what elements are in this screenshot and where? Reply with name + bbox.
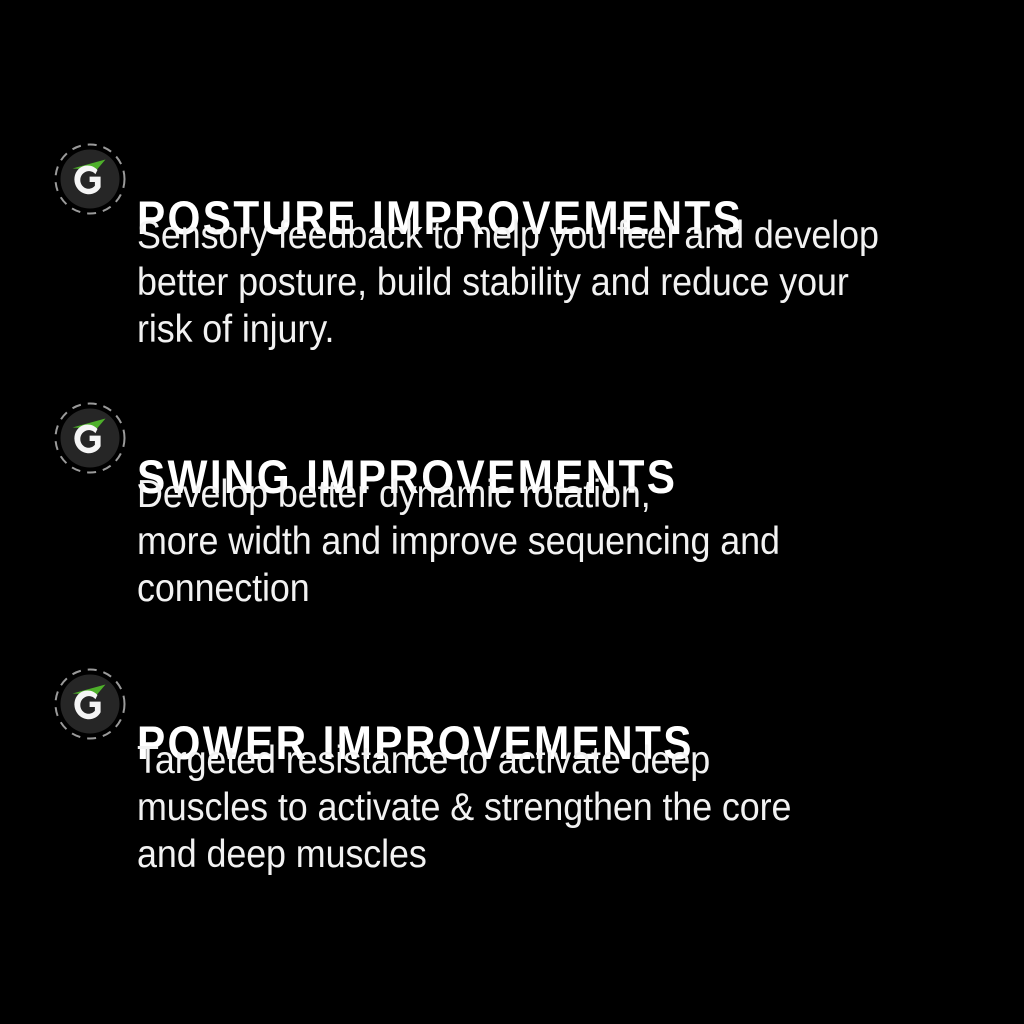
feature-description-line: risk of injury.: [137, 306, 965, 353]
feature-description-posture: Sensory feedback to help you feel and de…: [137, 212, 965, 353]
golf-g-badge-icon: [53, 667, 127, 741]
feature-block-swing: SWING IMPROVEMENTS Develop better dynami…: [0, 399, 1024, 618]
feature-description-line: Develop better dynamic rotation,: [137, 471, 965, 518]
feature-description-power: Targeted resistance to activate deep mus…: [137, 737, 965, 878]
feature-block-power: POWER IMPROVEMENTS Targeted resistance t…: [0, 665, 1024, 884]
feature-block-posture: POSTURE IMPROVEMENTS Sensory feedback to…: [0, 140, 1024, 359]
golf-g-badge-icon: [53, 142, 127, 216]
feature-description-line: more width and improve sequencing and: [137, 518, 965, 565]
feature-header: POSTURE IMPROVEMENTS: [0, 140, 1024, 218]
feature-header: SWING IMPROVEMENTS: [0, 399, 1024, 477]
feature-description-line: muscles to activate & strengthen the cor…: [137, 784, 965, 831]
feature-description-swing: Develop better dynamic rotation, more wi…: [137, 471, 965, 612]
feature-description-line: better posture, build stability and redu…: [137, 259, 965, 306]
feature-description-line: Targeted resistance to activate deep: [137, 737, 965, 784]
feature-description-line: connection: [137, 565, 965, 612]
feature-list-graphic: POSTURE IMPROVEMENTS Sensory feedback to…: [0, 0, 1024, 1024]
feature-header: POWER IMPROVEMENTS: [0, 665, 1024, 743]
feature-description-line: and deep muscles: [137, 831, 965, 878]
golf-g-badge-icon: [53, 401, 127, 475]
feature-description-line: Sensory feedback to help you feel and de…: [137, 212, 965, 259]
